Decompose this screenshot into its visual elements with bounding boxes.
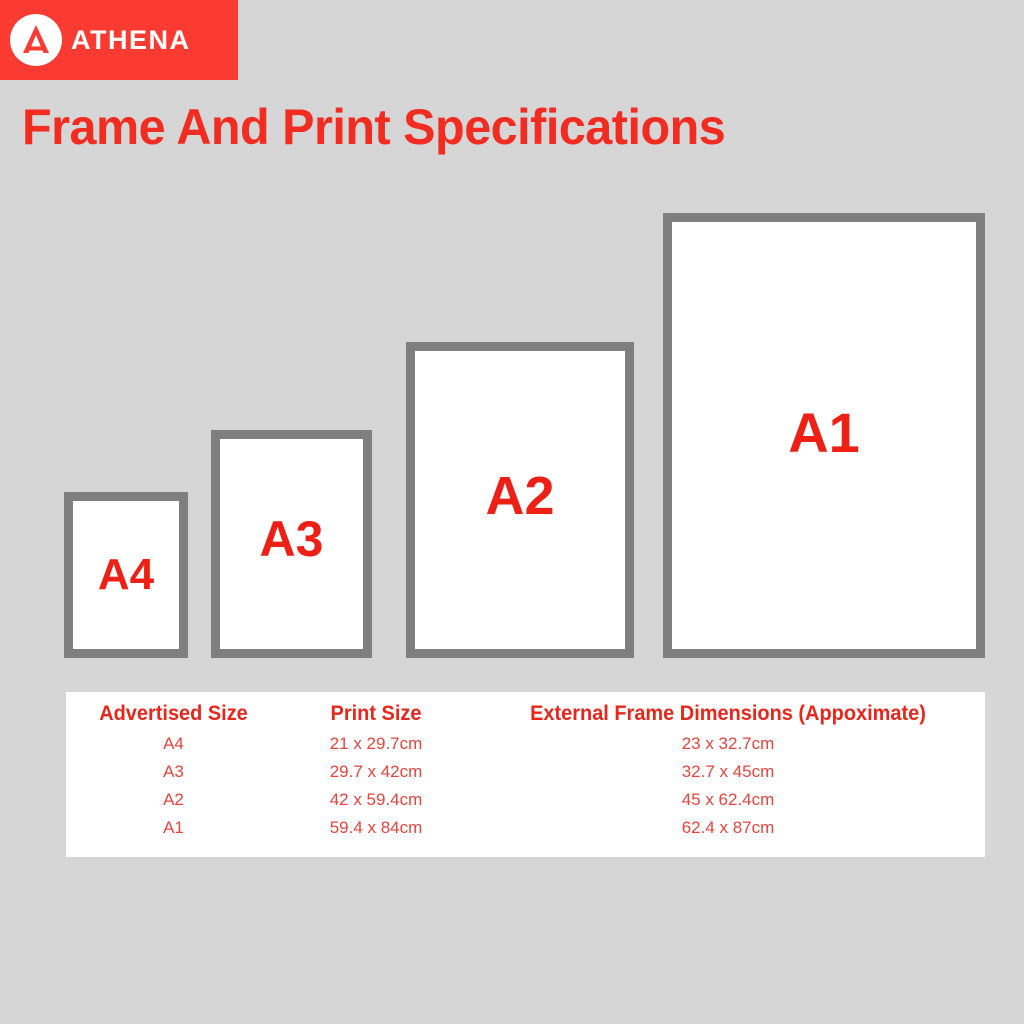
cell-advertised-size: A4 [66, 730, 281, 758]
cell-print-size: 29.7 x 42cm [281, 758, 471, 786]
cell-external-frame: 45 x 62.4cm [471, 786, 985, 814]
frame-preview-a1: A1 [663, 213, 985, 658]
cell-advertised-size: A3 [66, 758, 281, 786]
frame-label-a3: A3 [260, 514, 324, 564]
table-row: A2 42 x 59.4cm 45 x 62.4cm [66, 786, 985, 814]
cell-advertised-size: A2 [66, 786, 281, 814]
cell-print-size: 21 x 29.7cm [281, 730, 471, 758]
cell-print-size: 59.4 x 84cm [281, 814, 471, 842]
frame-label-a1: A1 [788, 405, 860, 461]
athena-a-circle-icon [10, 14, 62, 66]
specs-table-panel: Advertised Size Print Size External Fram… [66, 692, 985, 857]
page-title: Frame And Print Specifications [22, 98, 725, 156]
frame-label-a4: A4 [98, 553, 154, 597]
table-row: A4 21 x 29.7cm 23 x 32.7cm [66, 730, 985, 758]
column-header-print-size: Print Size [286, 692, 467, 730]
table-row: A3 29.7 x 42cm 32.7 x 45cm [66, 758, 985, 786]
brand-header-bar: ATHENA [0, 0, 238, 80]
frame-label-a2: A2 [485, 469, 554, 523]
specs-table: Advertised Size Print Size External Fram… [66, 692, 985, 842]
cell-print-size: 42 x 59.4cm [281, 786, 471, 814]
cell-external-frame: 62.4 x 87cm [471, 814, 985, 842]
cell-advertised-size: A1 [66, 814, 281, 842]
table-row: A1 59.4 x 84cm 62.4 x 87cm [66, 814, 985, 842]
frame-preview-a4: A4 [64, 492, 188, 658]
column-header-advertised-size: Advertised Size [71, 692, 275, 730]
frame-preview-a2: A2 [406, 342, 634, 658]
cell-external-frame: 32.7 x 45cm [471, 758, 985, 786]
column-header-external-frame-dimensions: External Frame Dimensions (Appoximate) [484, 692, 972, 730]
specs-table-header-row: Advertised Size Print Size External Fram… [66, 692, 985, 730]
brand-wordmark: ATHENA [71, 27, 191, 54]
cell-external-frame: 23 x 32.7cm [471, 730, 985, 758]
frame-preview-a3: A3 [211, 430, 372, 658]
